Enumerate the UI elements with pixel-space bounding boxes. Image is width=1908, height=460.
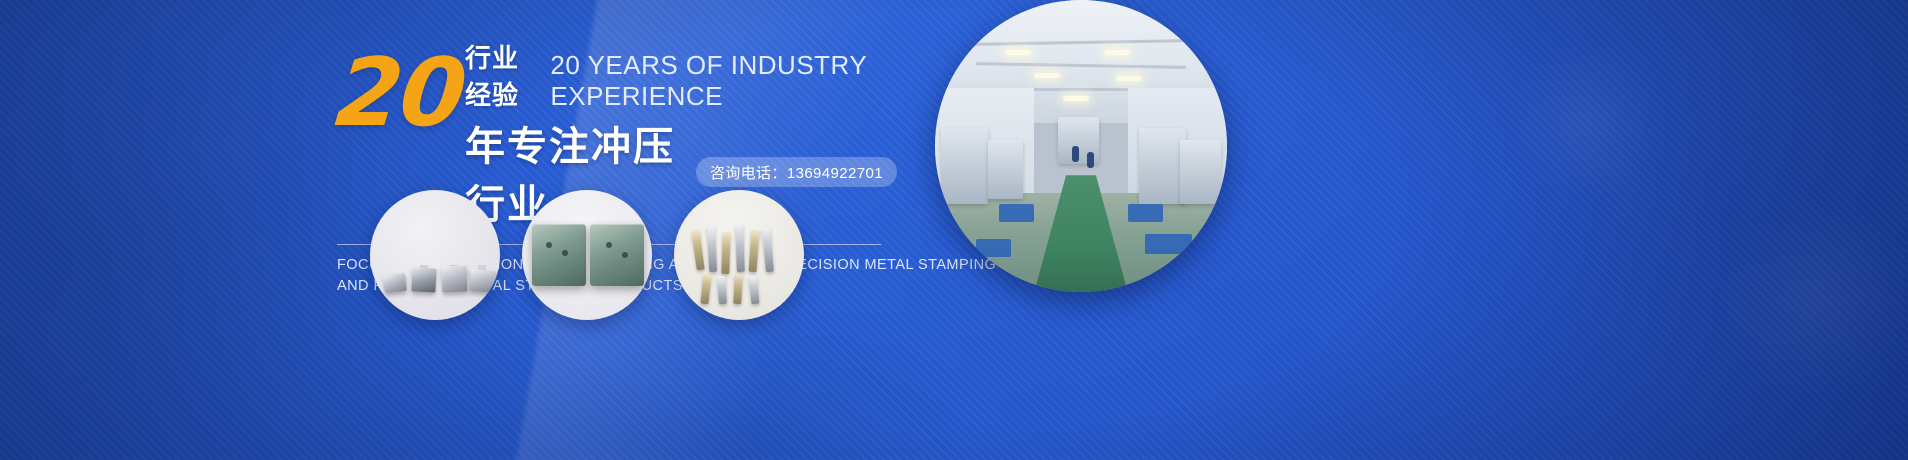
factory-photo-content: [935, 0, 1227, 292]
blue-crate: [1145, 234, 1192, 254]
die-hole: [546, 242, 552, 248]
factory-machine: [1139, 128, 1186, 204]
usb-connector-part: [442, 266, 468, 293]
metal-pin: [707, 226, 717, 272]
metal-pin: [762, 228, 774, 273]
years-number: 20: [333, 54, 468, 135]
metal-pin: [749, 276, 760, 305]
factory-machine: [1180, 140, 1221, 204]
usb-connector-part: [383, 273, 407, 293]
factory-machine: [941, 128, 988, 204]
metal-pin: [735, 224, 745, 272]
cn-tagline-small: 行业经验: [465, 38, 540, 112]
factory-machine: [988, 140, 1023, 198]
product-circle-metal-pins[interactable]: Precision stamped metal contact pins: [674, 190, 804, 320]
product-circle-stamping-die[interactable]: Precision metal stamping mold / die set: [522, 190, 652, 320]
die-hole: [622, 252, 628, 258]
metal-pin: [749, 230, 760, 272]
metal-pin: [717, 276, 727, 304]
en-tagline: 20 YEARS OF INDUSTRY EXPERIENCE: [550, 50, 897, 112]
ceiling-light-icon: [1104, 50, 1130, 55]
hero-banner: 20 行业经验 20 YEARS OF INDUSTRY EXPERIENCE …: [0, 0, 1908, 460]
usb-connector-part: [469, 269, 497, 293]
phone-badge[interactable]: 咨询电话：13694922701: [696, 157, 897, 187]
ceiling-light-icon: [1034, 73, 1060, 78]
die-hole: [562, 250, 568, 256]
blue-crate: [999, 204, 1034, 222]
metal-pin: [700, 274, 711, 305]
product-caption: Precision stamped USB connector shells: [370, 190, 371, 191]
ceiling-light-icon: [1063, 96, 1089, 101]
product-caption: Precision metal stamping mold / die set: [522, 190, 523, 191]
ceiling-light-icon: [1116, 76, 1142, 81]
headline-row-top: 行业经验 20 YEARS OF INDUSTRY EXPERIENCE: [465, 38, 897, 112]
product-circle-usb-connectors[interactable]: Precision stamped USB connector shells: [370, 190, 500, 320]
blue-crate: [1128, 204, 1163, 222]
metal-pin: [691, 230, 704, 271]
product-circle-group: Precision stamped USB connector shells P…: [370, 190, 804, 320]
factory-worker: [1072, 146, 1079, 162]
die-half-left: [532, 224, 586, 286]
blue-crate: [976, 239, 1011, 257]
metal-pin: [733, 274, 743, 304]
factory-workshop-photo[interactable]: Factory workshop production line: [935, 0, 1227, 292]
ceiling-light-icon: [1005, 50, 1031, 55]
metal-pin: [721, 232, 730, 274]
die-hole: [606, 242, 612, 248]
die-half-right: [590, 224, 644, 286]
product-caption: Precision stamped metal contact pins: [674, 190, 675, 191]
factory-worker: [1087, 152, 1094, 168]
usb-connector-part: [411, 267, 436, 292]
